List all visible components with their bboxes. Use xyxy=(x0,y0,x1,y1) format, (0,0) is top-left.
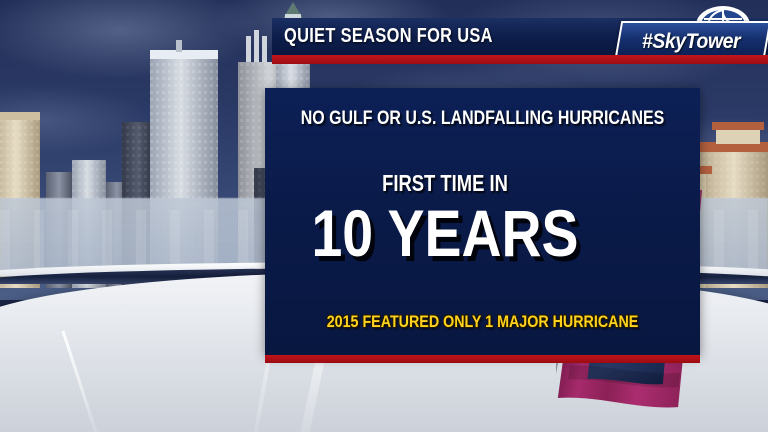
panel-headline: NO GULF OR U.S. LANDFALLING HURRICANES xyxy=(300,108,665,130)
desk-seam xyxy=(62,330,102,432)
broadcast-graphic: NO GULF OR U.S. LANDFALLING HURRICANES F… xyxy=(0,0,768,432)
info-panel: NO GULF OR U.S. LANDFALLING HURRICANES F… xyxy=(265,88,700,355)
skytower-logo: #SkyTower xyxy=(618,4,766,58)
panel-footnote: 2015 FEATURED ONLY 1 MAJOR HURRICANE xyxy=(300,312,665,332)
panel-kicker: FIRST TIME IN xyxy=(301,170,589,197)
header-title: QUIET SEASON FOR USA xyxy=(284,25,493,48)
logo-text: #SkyTower xyxy=(623,25,759,58)
header-bar: QUIET SEASON FOR USA #SkyTower xyxy=(272,18,768,55)
panel-accent-bar xyxy=(265,355,700,363)
panel-stat: 10 YEARS xyxy=(294,200,596,266)
header-accent-bar xyxy=(272,55,768,64)
